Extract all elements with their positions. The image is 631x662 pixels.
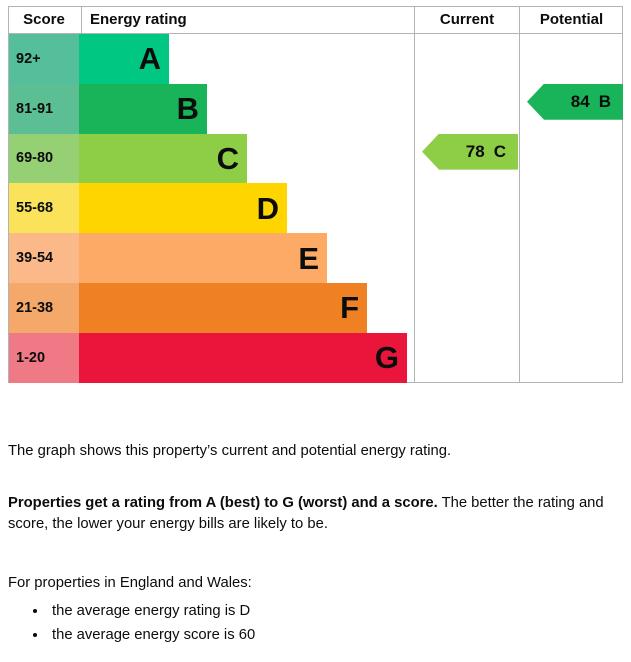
- column-header-energy-rating: Energy rating: [81, 7, 414, 33]
- band-bar-b: B: [79, 84, 207, 134]
- band-row-a: 92+ A: [9, 34, 622, 84]
- potential-score-value: 84: [571, 92, 590, 112]
- potential-rating-arrow: 84 B: [527, 84, 623, 120]
- score-cell-a: 92+: [9, 34, 79, 84]
- energy-rating-chart: Score Energy rating Current Potential 92…: [8, 6, 623, 383]
- chart-band-area: 92+ A 81-91 B 84 B 69-80 C 78 C: [9, 34, 622, 383]
- band-letter-f: F: [340, 292, 359, 323]
- band-letter-b: B: [177, 93, 199, 124]
- score-cell-e: 39-54: [9, 233, 79, 283]
- column-header-score: Score: [9, 7, 79, 33]
- band-row-d: 55-68 D: [9, 183, 622, 233]
- band-bar-g: G: [79, 333, 407, 383]
- potential-band-letter: B: [599, 92, 611, 112]
- score-cell-b: 81-91: [9, 84, 79, 134]
- score-cell-f: 21-38: [9, 283, 79, 333]
- column-divider-current: [414, 34, 415, 383]
- band-bar-a: A: [79, 34, 169, 84]
- region-averages-list: the average energy rating is D the avera…: [8, 600, 255, 648]
- column-divider-potential: [519, 34, 520, 383]
- list-item: the average energy score is 60: [48, 624, 255, 648]
- region-label: For properties in England and Wales:: [8, 573, 623, 594]
- chart-header-row: Score Energy rating Current Potential: [9, 7, 622, 34]
- score-cell-c: 69-80: [9, 134, 79, 184]
- band-letter-e: E: [298, 243, 319, 274]
- current-rating-arrow: 78 C: [422, 134, 518, 170]
- band-letter-g: G: [375, 342, 399, 373]
- band-row-c: 69-80 C 78 C: [9, 134, 622, 184]
- column-header-potential: Potential: [519, 7, 623, 33]
- score-cell-d: 55-68: [9, 183, 79, 233]
- band-letter-a: A: [139, 43, 161, 74]
- column-header-current: Current: [414, 7, 519, 33]
- rating-explanation-paragraph: Properties get a rating from A (best) to…: [8, 493, 623, 535]
- band-row-b: 81-91 B 84 B: [9, 84, 622, 134]
- chart-intro-paragraph: The graph shows this property’s current …: [8, 441, 623, 462]
- list-item: the average energy rating is D: [48, 600, 255, 624]
- current-band-letter: C: [494, 142, 506, 162]
- band-letter-c: C: [217, 143, 239, 174]
- band-letter-d: D: [257, 193, 279, 224]
- band-bar-d: D: [79, 183, 287, 233]
- band-bar-f: F: [79, 283, 367, 333]
- current-score-value: 78: [466, 142, 485, 162]
- band-bar-e: E: [79, 233, 327, 283]
- band-row-g: 1-20 G: [9, 333, 622, 383]
- band-row-e: 39-54 E: [9, 233, 622, 283]
- rating-explanation-lead: Properties get a rating from A (best) to…: [8, 495, 438, 511]
- band-bar-c: C: [79, 134, 247, 184]
- score-cell-g: 1-20: [9, 333, 79, 383]
- band-row-f: 21-38 F: [9, 283, 622, 333]
